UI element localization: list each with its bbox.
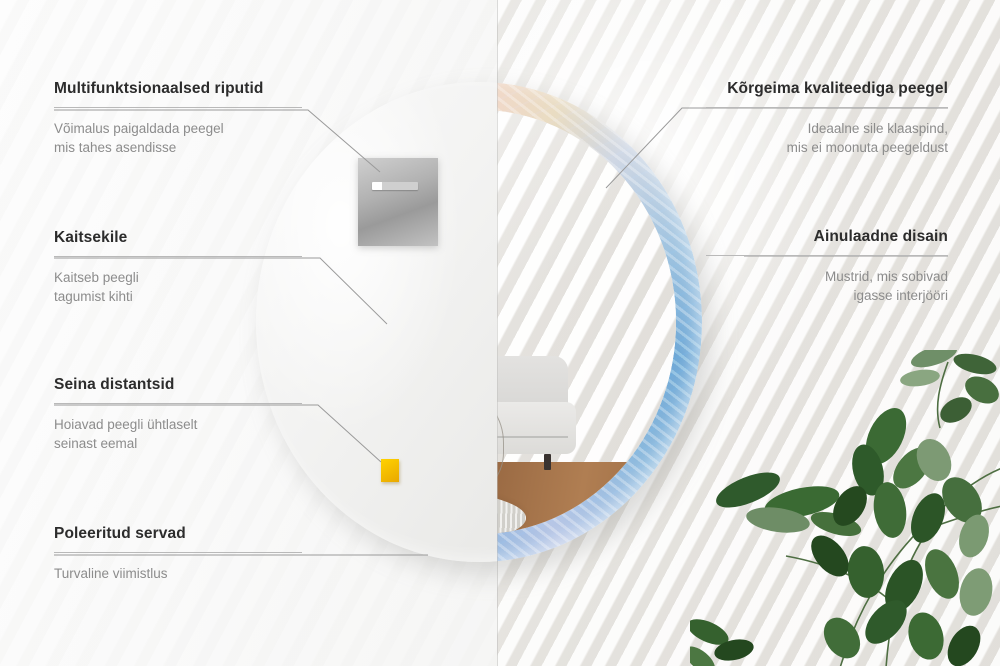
mirror-edge-highlight (256, 82, 702, 562)
hanger-plate (358, 158, 438, 246)
feature-title: Multifunktsionaalsed riputid (54, 80, 302, 98)
feature-title: Ainulaadne disain (706, 228, 948, 246)
feature-desc-line2: seinast eemal (54, 434, 302, 453)
feature-block-hangers: Multifunktsionaalsed riputid Võimalus pa… (54, 80, 302, 157)
feature-desc-line1: Hoiavad peegli ühtlaselt (54, 415, 302, 434)
hanger-slot-icon (372, 182, 418, 190)
feature-desc-line2: mis tahes asendisse (54, 138, 302, 157)
feature-title: Poleeritud servad (54, 525, 302, 543)
infographic-canvas: Multifunktsionaalsed riputid Võimalus pa… (0, 0, 1000, 666)
decor-foliage (690, 350, 1000, 666)
feature-desc-line1: Mustrid, mis sobivad (706, 267, 948, 286)
mirror-body (256, 82, 702, 562)
feature-rule (54, 107, 302, 108)
feature-rule (54, 552, 302, 553)
feature-block-protective-film: Kaitsekile Kaitseb peegli tagumist kihti (54, 229, 302, 306)
feature-title: Kõrgeima kvaliteediga peegel (706, 80, 948, 98)
feature-block-wall-spacers: Seina distantsid Hoiavad peegli ühtlasel… (54, 376, 302, 453)
feature-block-unique-design: Ainulaadne disain Mustrid, mis sobivad i… (706, 228, 948, 305)
feature-desc-line2: tagumist kihti (54, 287, 302, 306)
feature-rule (706, 255, 948, 256)
feature-rule (54, 403, 302, 404)
wall-spacer-block (381, 459, 399, 482)
feature-desc-line2: mis ei moonuta peegeldust (706, 138, 948, 157)
foliage-branches-icon (690, 350, 1000, 666)
feature-title: Seina distantsid (54, 376, 302, 394)
feature-rule (54, 256, 302, 257)
product-mirror (256, 82, 720, 562)
feature-desc-line1: Kaitseb peegli (54, 268, 302, 287)
feature-desc-line1: Võimalus paigaldada peegel (54, 119, 302, 138)
mirror-half-seam (497, 82, 498, 562)
feature-title: Kaitsekile (54, 229, 302, 247)
feature-rule (706, 107, 948, 108)
feature-block-polished-edges: Poleeritud servad Turvaline viimistlus (54, 525, 302, 583)
feature-desc-line2: igasse interjööri (706, 286, 948, 305)
feature-block-quality-mirror: Kõrgeima kvaliteediga peegel Ideaalne si… (706, 80, 948, 157)
feature-desc-line1: Turvaline viimistlus (54, 564, 302, 583)
feature-desc-line1: Ideaalne sile klaaspind, (706, 119, 948, 138)
